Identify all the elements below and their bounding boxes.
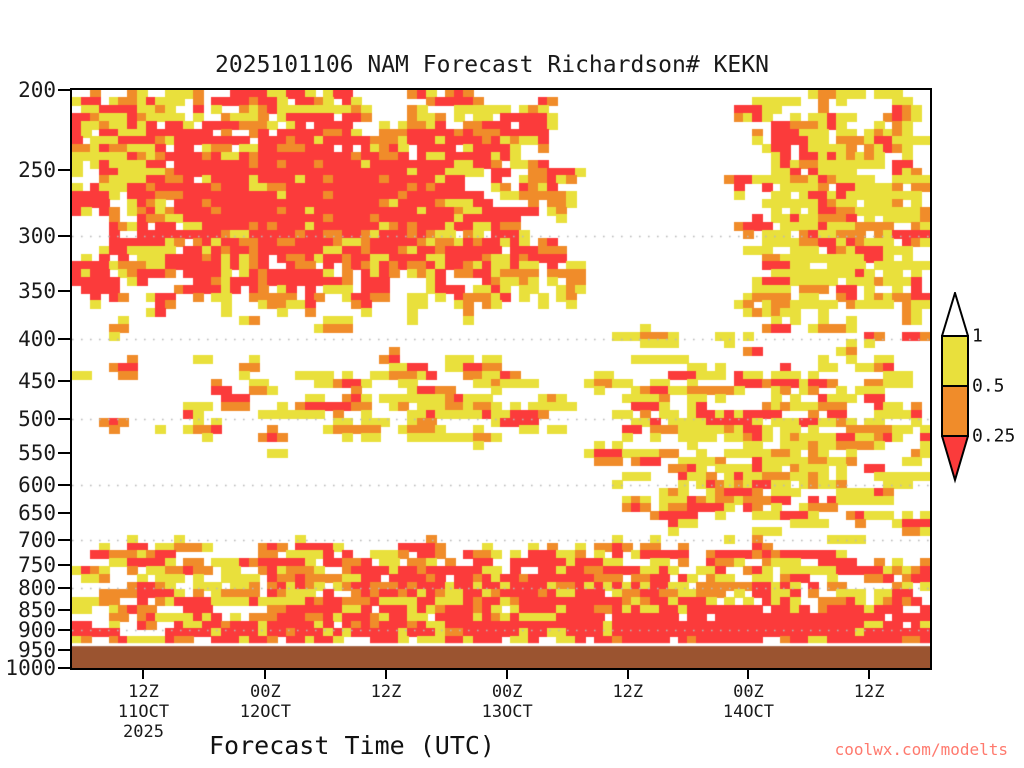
x-axis-label-date: 12OCT (240, 702, 291, 722)
colorbar-label: 0.25 (972, 426, 1015, 447)
x-axis-title: Forecast Time (UTC) (0, 731, 864, 760)
x-axis-tick (264, 670, 266, 679)
x-axis-label-time: 12Z (612, 682, 643, 702)
x-axis-label-date: 14OCT (723, 702, 774, 722)
x-axis-label: 00Z13OCT (482, 682, 533, 722)
watermark: coolwx.com/modelts (835, 740, 1008, 759)
x-axis-tick (142, 670, 144, 679)
x-axis: 12Z11OCT202500Z12OCT12Z00Z13OCT12Z00Z14O… (0, 0, 1024, 768)
colorbar-label: 0.5 (972, 376, 1005, 397)
x-axis-label-date: 13OCT (482, 702, 533, 722)
x-axis-label: 12Z (612, 682, 643, 702)
x-axis-tick (506, 670, 508, 679)
colorbar: 10.50.25 (941, 292, 969, 488)
x-axis-tick (385, 670, 387, 679)
x-axis-label-time: 00Z (240, 682, 291, 702)
x-axis-label: 12Z (371, 682, 402, 702)
colorbar-label: 1 (972, 326, 983, 347)
x-axis-label-time: 12Z (854, 682, 885, 702)
x-axis-label: 00Z14OCT (723, 682, 774, 722)
x-axis-label-time: 00Z (723, 682, 774, 702)
x-axis-label-date: 11OCT (118, 702, 169, 722)
x-axis-tick (747, 670, 749, 679)
x-axis-tick (627, 670, 629, 679)
colorbar-gradient (941, 292, 969, 484)
x-axis-label-time: 00Z (482, 682, 533, 702)
chart-page: 2025101106 NAM Forecast Richardson# KEKN… (0, 0, 1024, 768)
x-axis-tick (868, 670, 870, 679)
x-axis-label: 12Z (854, 682, 885, 702)
x-axis-label-time: 12Z (118, 682, 169, 702)
x-axis-label-time: 12Z (371, 682, 402, 702)
x-axis-label: 00Z12OCT (240, 682, 291, 722)
